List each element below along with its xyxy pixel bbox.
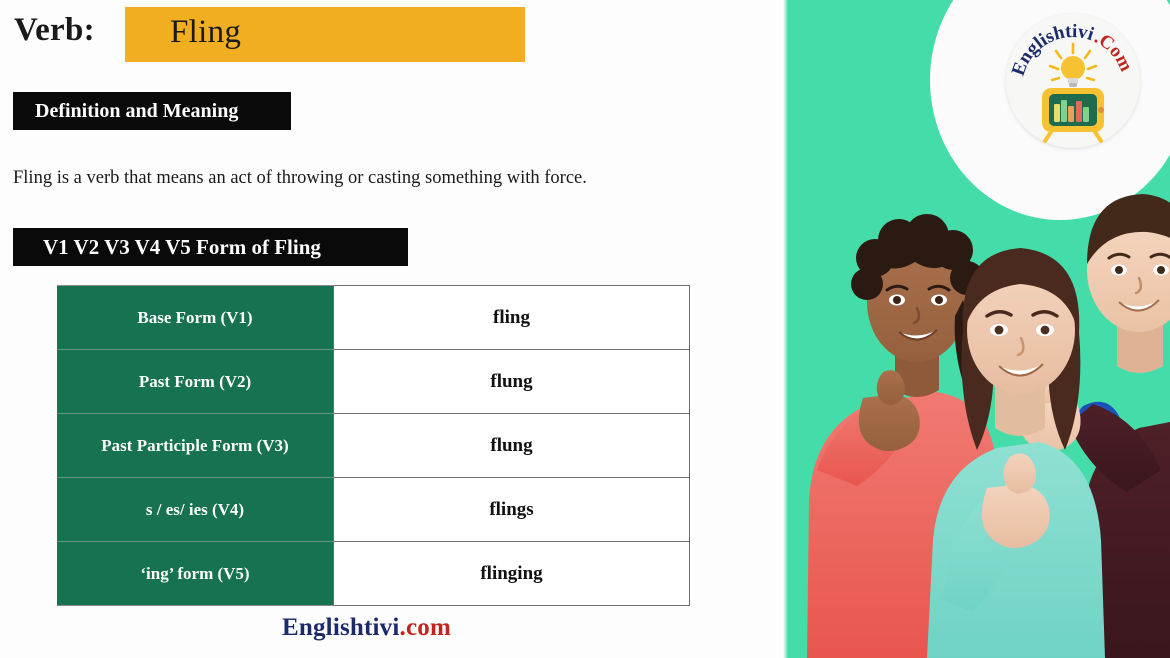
verb-forms-table-body: Base Form (V1) fling Past Form (V2) flun… [57, 286, 690, 606]
table-row: Base Form (V1) fling [57, 286, 690, 350]
infographic-page: Englishtivi .Com [0, 0, 1170, 658]
englishtivi-logo-badge: Englishtivi .Com [1006, 14, 1140, 148]
row-value: flung [334, 414, 690, 478]
lightbulb-icon [1061, 56, 1085, 80]
row-value: flung [334, 350, 690, 414]
verb-label: Verb: [14, 12, 95, 49]
definition-text: Fling is a verb that means an act of thr… [13, 168, 587, 189]
table-row: Past Form (V2) flung [57, 350, 690, 414]
verb-word: Fling [170, 14, 241, 51]
row-value: flinging [334, 542, 690, 606]
row-label: ‘ing’ form (V5) [57, 542, 334, 606]
footer-brand: Englishtivi.com [282, 614, 451, 642]
row-label: Past Form (V2) [57, 350, 334, 414]
footer-brand-tld: .com [400, 614, 451, 641]
row-label: Base Form (V1) [57, 286, 334, 350]
table-row: Past Participle Form (V3) flung [57, 414, 690, 478]
row-value: fling [334, 286, 690, 350]
svg-text:.Com: .Com [1091, 27, 1137, 75]
table-row: s / es/ ies (V4) flings [57, 478, 690, 542]
forms-heading: V1 V2 V3 V4 V5 Form of Fling [13, 228, 408, 266]
row-label: Past Participle Form (V3) [57, 414, 334, 478]
row-value: flings [334, 478, 690, 542]
footer-brand-name: Englishtivi [282, 614, 400, 641]
row-label: s / es/ ies (V4) [57, 478, 334, 542]
table-row: ‘ing’ form (V5) flinging [57, 542, 690, 606]
logo-tld-arc: .Com [1091, 27, 1137, 75]
verb-forms-table: Base Form (V1) fling Past Form (V2) flun… [57, 285, 690, 606]
definition-heading: Definition and Meaning [13, 92, 291, 130]
